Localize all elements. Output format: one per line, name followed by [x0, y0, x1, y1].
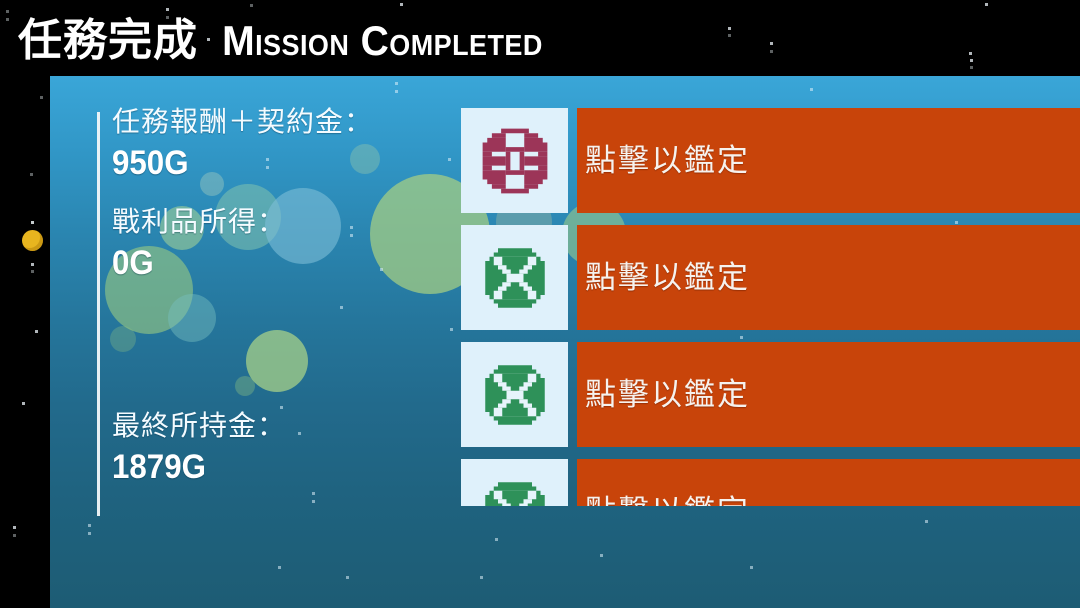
loot-icon-tile[interactable]	[461, 459, 568, 506]
identify-button-label: 點擊以鑑定	[585, 378, 750, 412]
bowtie-pixel-icon	[481, 361, 549, 429]
stat-label: 任務報酬＋契約金：	[112, 102, 472, 142]
stat-value: 0G	[112, 242, 443, 284]
loot-icon-tile[interactable]	[461, 108, 568, 213]
bowtie-pixel-icon	[481, 478, 549, 507]
stat-label: 戰利品所得：	[112, 202, 472, 242]
identify-button[interactable]: 點擊以鑑定	[577, 225, 1080, 330]
stats-column: 任務報酬＋契約金： 950G 戰利品所得： 0G 最終所持金： 1879G	[112, 102, 472, 492]
stats-spacer	[112, 288, 472, 406]
mission-results-panel: 任務報酬＋契約金： 950G 戰利品所得： 0G 最終所持金： 1879G	[50, 76, 1080, 608]
stat-final-gold: 最終所持金： 1879G	[112, 406, 472, 488]
identify-button[interactable]: 點擊以鑑定	[577, 108, 1080, 213]
stat-loot-income: 戰利品所得： 0G	[112, 202, 472, 284]
stats-divider	[97, 112, 100, 516]
identify-button[interactable]: 點擊以鑑定	[577, 459, 1080, 506]
identify-button[interactable]: 點擊以鑑定	[577, 342, 1080, 447]
loot-list: 點擊以鑑定	[461, 108, 1080, 588]
loot-row[interactable]: 點擊以鑑定	[461, 342, 1080, 447]
identify-button-label: 點擊以鑑定	[585, 495, 750, 507]
coin-sparkle	[31, 221, 34, 224]
loot-row[interactable]: 點擊以鑑定	[461, 108, 1080, 213]
page-title-english: Mission Completed	[222, 17, 543, 65]
loot-icon-tile[interactable]	[461, 225, 568, 330]
game-screen: 任務報酬＋契約金： 950G 戰利品所得： 0G 最終所持金： 1879G	[0, 0, 1080, 608]
loot-icon-tile[interactable]	[461, 342, 568, 447]
stat-label: 最終所持金：	[112, 406, 472, 446]
page-title-cjk: 任務完成	[18, 16, 198, 66]
page-title: 任務完成 Mission Completed	[18, 16, 555, 68]
stat-value: 1879G	[112, 446, 443, 488]
identify-button-label: 點擊以鑑定	[585, 144, 750, 178]
gold-coin-dot	[22, 230, 43, 251]
bowtie-pixel-icon	[481, 244, 549, 312]
loot-row[interactable]: 點擊以鑑定	[461, 225, 1080, 330]
loot-row[interactable]: 點擊以鑑定	[461, 459, 1080, 506]
identify-button-label: 點擊以鑑定	[585, 261, 750, 295]
gem-pixel-icon	[478, 124, 552, 198]
stat-mission-reward: 任務報酬＋契約金： 950G	[112, 102, 472, 184]
stat-value: 950G	[112, 142, 443, 184]
